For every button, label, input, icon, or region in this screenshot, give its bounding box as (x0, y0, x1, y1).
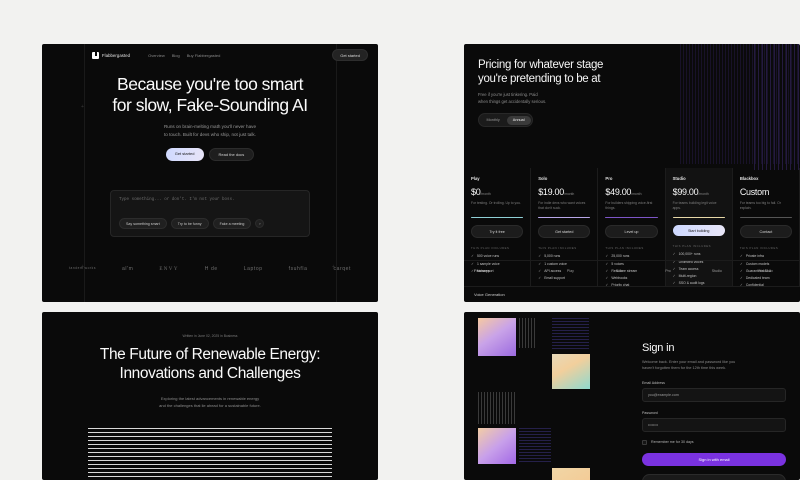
pricing-header: Pricing for whatever stage you're preten… (478, 58, 710, 127)
pricing-stripe-decor-2 (754, 44, 800, 170)
tier-includes-label: THIS PLAN INCLUDES (471, 246, 523, 250)
tier-includes-label: THIS PLAN INCLUDES (538, 246, 590, 250)
tier-accent-bar (538, 217, 590, 218)
check-icon: ✓ (740, 254, 743, 258)
tier-accent-bar (740, 217, 792, 218)
tier-cta-button[interactable]: Start building (673, 225, 725, 236)
signin-with-email-button[interactable]: Sign in with email (642, 453, 786, 466)
nav-link-overview[interactable]: Overview (148, 53, 165, 58)
brand-name: Flabbergasted (102, 53, 130, 58)
tier-price-value: $49.00 (605, 187, 631, 197)
article-meta: Written in June 02, 2025 in Business (42, 334, 378, 338)
hero-headline: Because you're too smart for slow, Fake-… (42, 74, 378, 115)
tier-cta-button[interactable]: Level up (605, 225, 657, 238)
comparison-features-label: Features (474, 268, 546, 273)
tier-price: $99.00/month (673, 187, 725, 197)
hero-headline-line-1: Because you're too smart (42, 74, 378, 95)
email-field[interactable]: you@example.com (642, 388, 786, 402)
article-hero-line-art (88, 428, 332, 480)
hero-buttons: Get started Read the docs (42, 148, 378, 161)
hero-sub-line-1: Runs on brain-melting math you'll never … (42, 123, 378, 131)
prompt-submit-arrow-icon[interactable]: › (255, 219, 264, 228)
hero-get-started-button[interactable]: Get started (166, 148, 204, 161)
comparison-section-row: Voice Generation (464, 286, 800, 302)
partner-logo-envy: ENVY (159, 267, 179, 272)
chip-say-something-smart[interactable]: Say something smart (119, 218, 167, 229)
tier-feature: ✓500 voice runs (471, 254, 523, 258)
nav-get-started-button[interactable]: Get started (332, 49, 368, 61)
gradient-tile-1 (478, 318, 516, 356)
brand-logo[interactable]: Flabbergasted (92, 52, 130, 59)
tier-feature: ✓100,000+ runs (673, 252, 725, 256)
tier-accent-bar (471, 217, 523, 218)
signin-panel: Sign in Welcome back. Enter your email a… (464, 312, 800, 480)
partner-logo-carqet: carqet (333, 266, 351, 272)
hero-content: Because you're too smart for slow, Fake-… (42, 74, 378, 161)
tier-price-period: /month (564, 192, 574, 196)
tier-name: Play (471, 176, 523, 181)
hero-sub-line-2: to touch. Built for devs who ship, not j… (42, 131, 378, 139)
tier-cta-button[interactable]: Contact (740, 225, 792, 238)
prompt-input-box[interactable]: Type something... or don't. I'm not your… (110, 190, 310, 237)
tier-price-value: $19.00 (538, 187, 564, 197)
article-sub-line-1: Exploring the latest advancements in ren… (82, 396, 338, 403)
tier-feature-label: 5,000 runs (544, 254, 560, 258)
tier-name: Solo (538, 176, 590, 181)
comparison-col-blackbox: Blackbox (741, 269, 790, 273)
tier-price-value: $0 (471, 187, 480, 197)
tier-name: Pro (605, 176, 657, 181)
tier-price: $49.00/month (605, 187, 657, 197)
nav-link-buy[interactable]: Buy Flabbergasted (187, 53, 221, 58)
check-icon: ✓ (471, 254, 474, 258)
vertical-stripe-tile-1 (519, 318, 537, 348)
horizontal-stripe-tile-1 (552, 318, 589, 350)
remember-me-row[interactable]: Remember me for 30 days (642, 440, 786, 445)
remember-me-label: Remember me for 30 days (651, 440, 694, 444)
signin-decorative-art (464, 312, 629, 480)
pricing-headline-line-1: Pricing for whatever stage (478, 58, 710, 72)
screenshot-canvas: Flabbergasted Overview Blog Buy Flabberg… (0, 0, 800, 480)
gradient-tile-4 (552, 468, 590, 480)
remember-me-checkbox[interactable] (642, 440, 647, 445)
tier-includes-label: THIS PLAN INCLUDES (605, 246, 657, 250)
partner-logo-fsuhfla: fsuhfla (289, 266, 308, 272)
toggle-monthly[interactable]: Monthly (481, 116, 506, 125)
comparison-section-label: Voice Generation (474, 292, 505, 297)
signin-form: Sign in Welcome back. Enter your email a… (642, 342, 786, 480)
tier-price: $19.00/month (538, 187, 590, 197)
comparison-col-pro: Pro (644, 269, 693, 273)
tier-feature-label: 100,000+ runs (679, 252, 701, 256)
tier-description: For builders shipping voice-first things… (605, 201, 657, 213)
tier-description: For testing. Or trolling. Up to you. (471, 201, 523, 213)
tier-accent-bar (673, 217, 725, 218)
signin-title: Sign in (642, 342, 786, 354)
comparison-col-solo: Solo (595, 269, 644, 273)
tier-includes-label: THIS PLAN INCLUDES (740, 246, 792, 250)
partner-logo-alm: al'm (122, 266, 133, 272)
partner-logo-laptop: Laptop (244, 266, 263, 272)
tier-accent-bar (605, 217, 657, 218)
pricing-panel: Pricing for whatever stage you're preten… (464, 44, 800, 302)
password-label: Password (642, 411, 786, 415)
blog-article-panel: Written in June 02, 2025 in Business The… (42, 312, 378, 480)
check-icon: ✓ (605, 254, 608, 258)
partner-logo-tandem: tandem works (69, 267, 96, 271)
check-icon: ✓ (673, 252, 676, 256)
password-field[interactable]: •••••••• (642, 418, 786, 432)
comparison-col-play: Play (546, 269, 595, 273)
tier-price-period: /month (631, 192, 641, 196)
article-title: The Future of Renewable Energy: Innovati… (56, 346, 364, 383)
tier-cta-button[interactable]: Get started (538, 225, 590, 238)
tier-description: For indie devs who want voices that don'… (538, 201, 590, 213)
vertical-stripe-tile-2 (478, 392, 516, 424)
hero-landing-panel: Flabbergasted Overview Blog Buy Flabberg… (42, 44, 378, 302)
pricing-headline: Pricing for whatever stage you're preten… (478, 58, 710, 86)
tier-includes-label: THIS PLAN INCLUDES (673, 244, 725, 248)
comparison-col-studio: Studio (692, 269, 741, 273)
brand-mark-icon (92, 52, 99, 59)
article-title-line-2: Innovations and Challenges (56, 365, 364, 384)
tier-feature: ✓25,000 runs (605, 254, 657, 258)
chip-try-to-be-funny[interactable]: Try to be funny (171, 218, 209, 229)
pricing-subheadline: Free if you're just tinkering. Paid when… (478, 92, 710, 105)
hero-read-docs-button[interactable]: Read the docs (209, 148, 255, 161)
tier-feature-label: 500 voice runs (477, 254, 499, 258)
tier-feature: ✓Private infra (740, 254, 792, 258)
partner-logo-row: tandem works al'm ENVY H de Laptop fsuhf… (42, 266, 378, 272)
tier-price-value: $99.00 (673, 187, 699, 197)
pricing-sub-line-1: Free if you're just tinkering. Paid (478, 92, 710, 99)
tier-feature-label: Private infra (746, 254, 764, 258)
check-icon: ✓ (538, 254, 541, 258)
gradient-tile-3 (478, 428, 516, 464)
tier-name: Studio (673, 176, 725, 181)
tier-description: For teams building legit voice apps. (673, 201, 725, 213)
tier-feature: ✓5,000 runs (538, 254, 590, 258)
prompt-placeholder-text: Type something... or don't. I'm not your… (119, 198, 301, 202)
chip-fake-a-meeting[interactable]: Fake a meeting (213, 218, 252, 229)
tier-feature-label: 25,000 runs (611, 254, 629, 258)
toggle-annual[interactable]: Annual (507, 116, 531, 125)
hero-headline-line-2: for slow, Fake-Sounding AI (42, 95, 378, 116)
signin-sub-line-2: haven't forgotten them for the 12th time… (642, 365, 786, 371)
tier-price-period: /month (480, 192, 490, 196)
nav-links: Overview Blog Buy Flabbergasted (148, 53, 220, 58)
tier-description: For teams too big to fail. Or explain. (740, 201, 792, 213)
billing-period-toggle: Monthly Annual (478, 113, 533, 127)
pricing-headline-line-2: you're pretending to be at (478, 72, 710, 86)
horizontal-stripe-tile-2 (519, 428, 551, 464)
article-subtitle: Exploring the latest advancements in ren… (82, 396, 338, 410)
tier-price-value: Custom (740, 187, 769, 197)
hero-navbar: Flabbergasted Overview Blog Buy Flabberg… (42, 44, 378, 66)
tier-price: Custom (740, 187, 792, 197)
signin-subtitle: Welcome back. Enter your email and passw… (642, 359, 786, 372)
prompt-suggestion-chips: Say something smart Try to be funny Fake… (119, 218, 301, 229)
email-label: Email Address (642, 381, 786, 385)
article-title-line-1: The Future of Renewable Energy: (56, 346, 364, 365)
article-sub-line-2: and the challenges that lie ahead for a … (82, 403, 338, 410)
partner-logo-hde: H de (205, 266, 218, 272)
signin-with-google-button[interactable]: G Sign in with Google (642, 474, 786, 480)
nav-link-blog[interactable]: Blog (172, 53, 180, 58)
tier-name: Blackbox (740, 176, 792, 181)
tier-price-period: /month (698, 192, 708, 196)
pricing-sub-line-2: when things get accidentally serious. (478, 99, 710, 106)
comparison-header-row: Features Play Solo Pro Studio Blackbox (464, 261, 800, 273)
gradient-tile-2 (552, 354, 590, 389)
tier-price: $0/month (471, 187, 523, 197)
hero-subheadline: Runs on brain-melting math you'll never … (42, 123, 378, 139)
plan-comparison-table: Features Play Solo Pro Studio Blackbox V… (464, 260, 800, 302)
tier-cta-button[interactable]: Try it free (471, 225, 523, 238)
